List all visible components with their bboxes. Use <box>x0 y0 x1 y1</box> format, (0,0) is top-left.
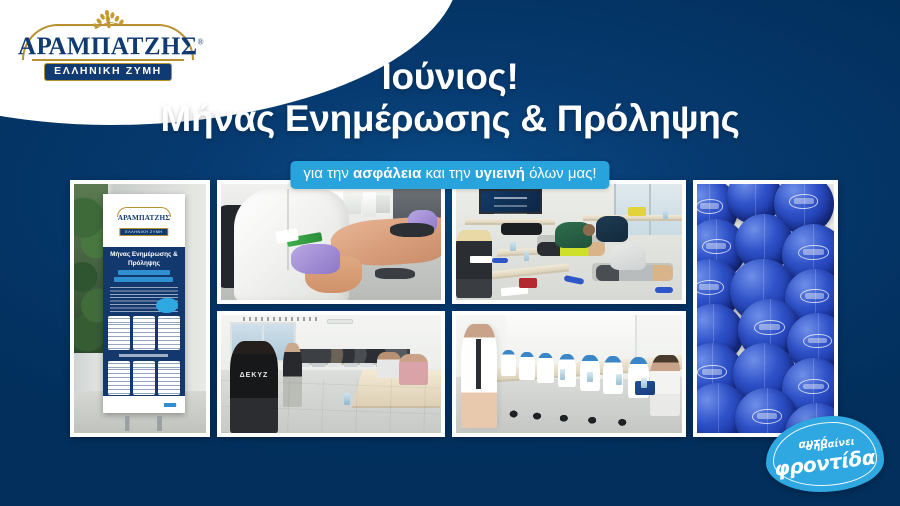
photo-stress-balls <box>693 180 838 437</box>
scene-lobby: ΑΡΑΜΠΑΤΖΗΣ ΕΛΛΗΝΙΚΗ ΖΥΜΗ Μήνας Ενημέρωση… <box>74 184 206 433</box>
photo-rollup-banner: ΑΡΑΜΠΑΤΖΗΣ ΕΛΛΗΝΙΚΗ ΖΥΜΗ Μήνας Ενημέρωση… <box>70 180 210 437</box>
rollup-card <box>158 316 180 350</box>
registered-mark: ® <box>198 38 204 47</box>
care-badge-text: αυτό σημαίνει φροντίδα <box>766 416 884 492</box>
staff-member <box>501 350 516 376</box>
first-aid-box <box>519 278 537 288</box>
rollup-logo-tagline: ΕΛΛΗΝΙΚΗ ΖΥΜΗ <box>119 228 168 236</box>
staff-member <box>519 352 535 380</box>
blue-glove <box>564 275 585 285</box>
water-bottle <box>510 242 515 251</box>
photo-staff-training-image <box>456 315 682 433</box>
water-bottle <box>587 372 592 383</box>
tiled-floor <box>221 379 441 433</box>
cpr-trainee-1 <box>555 222 591 248</box>
rollup-cards-row-1 <box>108 316 180 350</box>
care-badge: αυτό σημαίνει φροντίδα <box>766 416 884 492</box>
social-icons <box>164 403 178 407</box>
patient-shoe <box>375 268 415 280</box>
rollup-card <box>158 361 180 395</box>
equipment-bag <box>501 223 542 235</box>
logo-wordmark: ΑΡΑΜΠΑΤΖΗΣ® <box>18 34 198 59</box>
ceiling-vent <box>327 319 353 325</box>
chair-row <box>497 393 664 428</box>
brand-logo: ΑΡΑΜΠΑΤΖΗΣ® ΕΛΛΗΝΙΚΗ ΖΥΜΗ <box>18 12 198 84</box>
photo-cpr-training-image <box>456 184 682 300</box>
subtitle-post: όλων μας! <box>525 165 597 182</box>
rollup-footer <box>103 396 185 413</box>
poster-canvas: ΑΡΑΜΠΑΤΖΗΣ® ΕΛΛΗΝΙΚΗ ΖΥΜΗ Ιούνιος! Μήνας… <box>0 0 900 506</box>
subtitle-banner: για την ασφάλεια και την υγιεινή όλων μα… <box>290 161 609 189</box>
photo-blood-draw-image <box>221 184 441 300</box>
staff-member <box>537 353 554 384</box>
rollup-body: Μήνας Ενημέρωσης & Πρόληψης <box>103 247 185 414</box>
water-bottle <box>524 251 529 260</box>
rollup-logo-text: ΑΡΑΜΠΑΤΖΗΣ <box>118 214 170 222</box>
water-bottle <box>663 210 668 219</box>
presentation-screen <box>479 189 542 215</box>
rollup-card <box>133 361 155 395</box>
rollup-header: ΑΡΑΜΠΑΤΖΗΣ ΕΛΛΗΝΙΚΗ ΖΥΜΗ <box>103 194 185 247</box>
subtitle-pre: για την <box>303 165 353 182</box>
rollup-care-blob-icon <box>156 298 177 313</box>
cpr-instructor <box>596 216 628 242</box>
rollup-subtitle-chip-2 <box>114 277 173 282</box>
instrument-tray <box>390 223 434 237</box>
rollup-subtitle-chip-1 <box>118 270 170 275</box>
rollup-section-label <box>119 354 168 357</box>
logo-rule-divider <box>32 59 184 61</box>
aed-device <box>628 207 646 216</box>
rollup-card <box>108 316 130 350</box>
rollup-title: Μήνας Ενημέρωσης & Πρόληψης <box>103 251 185 268</box>
water-bottle <box>560 369 565 380</box>
rollup-card <box>108 361 130 395</box>
scene-staff-training <box>456 315 682 433</box>
rollup-card <box>133 316 155 350</box>
scene-stress-balls <box>697 184 834 433</box>
subtitle-bold-safety: ασφάλεια <box>353 165 421 182</box>
nurse-glove-left <box>291 244 339 274</box>
photo-seminar-room-image: ΔΕΚΥΖ <box>221 315 441 433</box>
water-bottle <box>641 378 646 389</box>
training-speaker <box>461 324 497 428</box>
blue-glove <box>492 258 508 263</box>
photo-stress-balls-image <box>697 184 834 433</box>
seated-observer <box>456 230 492 297</box>
care-badge-line-3: φροντίδα <box>773 446 876 478</box>
scene-cpr-room <box>456 184 682 300</box>
scene-seminar: ΔΕΚΥΖ <box>221 315 441 433</box>
headline-line-2: Μήνας Ενημέρωσης & Πρόληψης <box>0 97 900 141</box>
ceiling-rail <box>243 317 318 321</box>
scene-clinic <box>221 184 441 300</box>
cpr-trainee-2 <box>610 244 646 270</box>
water-bottle <box>616 374 621 385</box>
attendee-front-right-b <box>377 352 401 378</box>
handout-paper <box>470 256 493 263</box>
subtitle-mid: και την <box>421 165 475 182</box>
photo-blood-draw <box>217 180 445 304</box>
photo-staff-training <box>452 311 686 437</box>
blue-glove <box>655 287 673 293</box>
logo-wordmark-text: ΑΡΑΜΠΑΤΖΗΣ <box>18 33 198 60</box>
rollup-cards-row-2 <box>108 361 180 395</box>
photo-cpr-training <box>452 180 686 304</box>
subtitle-bold-hygiene: υγιεινή <box>475 165 525 182</box>
rollup-stand: ΑΡΑΜΠΑΤΖΗΣ ΕΛΛΗΝΙΚΗ ΖΥΜΗ Μήνας Ενημέρωση… <box>103 194 185 413</box>
photo-rollup-banner-image: ΑΡΑΜΠΑΤΖΗΣ ΕΛΛΗΝΙΚΗ ΖΥΜΗ Μήνας Ενημέρωση… <box>74 184 206 433</box>
rollup-stand-legs <box>114 416 175 431</box>
photo-seminar-room: ΔΕΚΥΖ <box>217 311 445 437</box>
logo-tagline: ΕΛΛΗΝΙΚΗ ΖΥΜΗ <box>44 63 172 81</box>
